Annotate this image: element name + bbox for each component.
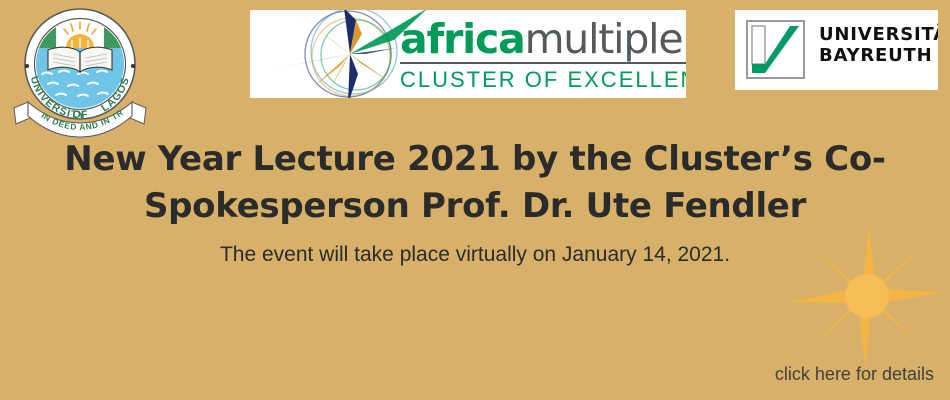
am-tagline: CLUSTER OF EXCELLENCE <box>400 67 686 93</box>
headline-line-1: New Year Lecture 2021 by the Cluster’s C… <box>60 136 890 183</box>
bayreuth-line-1: UNIVERSITÄT <box>819 24 938 45</box>
bayreuth-v-mark-icon <box>746 20 805 79</box>
am-word-africa: africa <box>400 15 525 63</box>
starburst-icon <box>787 222 947 370</box>
university-of-lagos-crest-icon: UNIVERSITY OF LAGOS IN DEED AND IN TRUTH <box>4 2 156 152</box>
am-word-multiple: multiple <box>525 15 683 63</box>
crest-arc-center: OF <box>72 108 89 121</box>
africamultiple-logo: africamultiple CLUSTER OF EXCELLENCE <box>250 10 686 98</box>
bayreuth-line-2: BAYREUTH <box>819 45 938 66</box>
universitaet-bayreuth-logo: UNIVERSITÄT BAYREUTH <box>735 10 938 90</box>
event-subtitle: The event will take place virtually on J… <box>60 243 890 267</box>
event-banner: UNIVERSITY OF LAGOS IN DEED AND IN TRUTH <box>0 0 950 400</box>
africamultiple-wordmark: africamultiple <box>400 16 686 62</box>
bayreuth-wordmark: UNIVERSITÄT BAYREUTH <box>819 24 938 66</box>
am-divider <box>400 62 686 64</box>
page-title: New Year Lecture 2021 by the Cluster’s C… <box>60 136 890 230</box>
headline-line-2: Spokesperson Prof. Dr. Ute Fendler <box>60 183 890 230</box>
svg-text:OF: OF <box>72 108 89 121</box>
details-link[interactable]: click here for details <box>775 364 934 385</box>
